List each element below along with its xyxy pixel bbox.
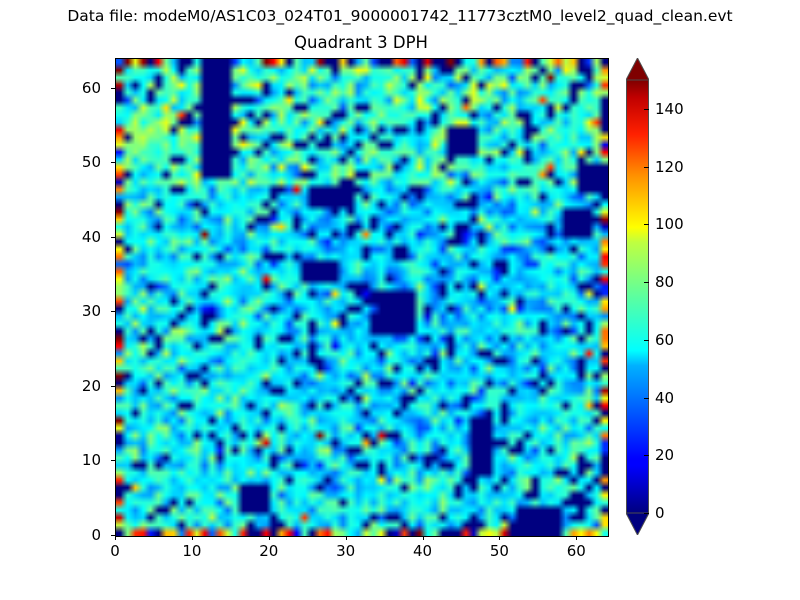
x-tick-mark xyxy=(192,536,193,540)
x-tick-mark xyxy=(346,536,347,540)
x-tick-mark xyxy=(423,536,424,540)
y-tick-label: 10 xyxy=(41,452,101,468)
y-tick-label: 60 xyxy=(41,80,101,96)
y-tick-mark xyxy=(111,237,115,238)
colorbar-tick-mark xyxy=(644,340,649,341)
x-tick-label: 60 xyxy=(546,543,606,559)
detector-plane-histogram xyxy=(116,59,608,536)
x-tick-label: 40 xyxy=(393,543,453,559)
y-tick-label: 0 xyxy=(41,527,101,543)
y-tick-label: 20 xyxy=(41,378,101,394)
figure-suptitle: Data file: modeM0/AS1C03_024T01_90000017… xyxy=(0,6,800,26)
y-tick-mark xyxy=(111,162,115,163)
colorbar-gradient xyxy=(626,58,649,535)
y-tick-mark xyxy=(111,386,115,387)
y-tick-mark xyxy=(111,311,115,312)
x-tick-mark xyxy=(269,536,270,540)
x-tick-mark xyxy=(499,536,500,540)
y-tick-mark xyxy=(111,460,115,461)
colorbar-tick-label: 120 xyxy=(655,159,684,175)
heatmap-axes xyxy=(115,58,609,537)
colorbar-tick-label: 20 xyxy=(655,447,674,463)
x-tick-mark xyxy=(115,536,116,540)
matplotlib-figure: Data file: modeM0/AS1C03_024T01_90000017… xyxy=(0,0,800,600)
colorbar-tick-mark xyxy=(644,109,649,110)
colorbar-tick-label: 60 xyxy=(655,332,674,348)
y-tick-label: 30 xyxy=(41,303,101,319)
x-tick-label: 10 xyxy=(162,543,222,559)
x-tick-label: 20 xyxy=(239,543,299,559)
y-tick-label: 40 xyxy=(41,229,101,245)
x-tick-label: 30 xyxy=(316,543,376,559)
colorbar-tick-label: 40 xyxy=(655,390,674,406)
colorbar-tick-label: 0 xyxy=(655,505,665,521)
x-tick-label: 0 xyxy=(85,543,145,559)
colorbar-tick-label: 80 xyxy=(655,274,674,290)
colorbar xyxy=(626,58,649,535)
colorbar-tick-mark xyxy=(644,282,649,283)
colorbar-tick-label: 140 xyxy=(655,101,684,117)
x-tick-label: 50 xyxy=(469,543,529,559)
colorbar-tick-mark xyxy=(644,513,649,514)
colorbar-tick-label: 100 xyxy=(655,216,684,232)
colorbar-tick-mark xyxy=(644,398,649,399)
y-tick-mark xyxy=(111,535,115,536)
colorbar-tick-mark xyxy=(644,224,649,225)
y-tick-mark xyxy=(111,88,115,89)
x-tick-mark xyxy=(576,536,577,540)
y-tick-label: 50 xyxy=(41,154,101,170)
colorbar-tick-mark xyxy=(644,167,649,168)
colorbar-tick-mark xyxy=(644,455,649,456)
page-title: Quadrant 3 DPH xyxy=(115,33,607,53)
